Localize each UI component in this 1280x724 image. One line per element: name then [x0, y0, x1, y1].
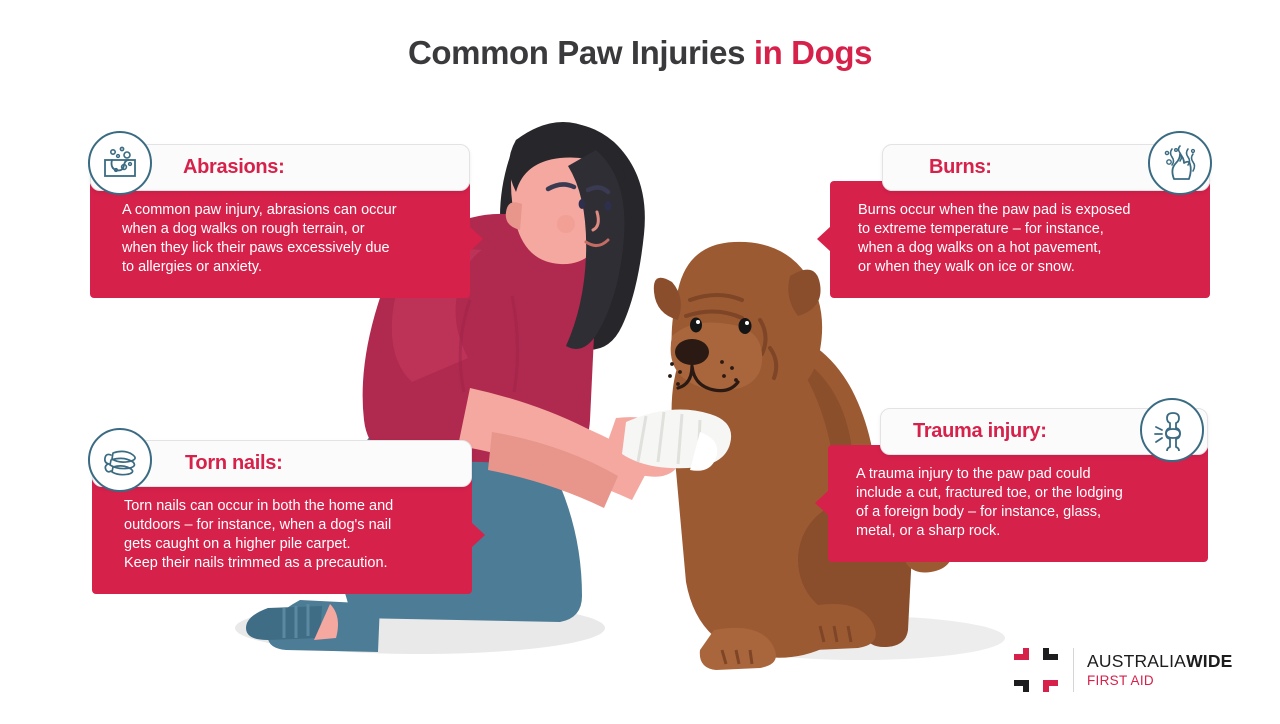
card-notch-right — [471, 522, 485, 548]
card-notch-left — [817, 226, 831, 252]
burn-heat-icon-badge — [1148, 131, 1212, 195]
abrasion-icon-badge — [88, 131, 152, 195]
card-notch-right — [469, 226, 483, 252]
logo-wordmark: AUSTRALIAWIDE FIRST AID — [1087, 652, 1233, 688]
card-trauma-injury-text: A trauma injury to the paw pad could inc… — [856, 465, 1182, 542]
torn-nail-icon — [99, 439, 141, 481]
torn-nail-icon-badge — [88, 428, 152, 492]
card-abrasions-text: A common paw injury, abrasions can occur… — [122, 201, 444, 278]
card-burns-title: Burns: — [929, 156, 992, 179]
logo-divider — [1073, 648, 1074, 692]
card-torn-nails-title: Torn nails: — [185, 452, 282, 475]
card-abrasions-body: A common paw injury, abrasions can occur… — [90, 181, 470, 298]
card-notch-left — [815, 490, 829, 516]
card-burns-text: Burns occur when the paw pad is exposed … — [858, 201, 1184, 278]
brand-logo: AUSTRALIAWIDE FIRST AID — [1012, 646, 1233, 694]
card-abrasions-title: Abrasions: — [183, 156, 284, 179]
australia-wide-cross-icon — [1012, 646, 1060, 694]
card-burns-body: Burns occur when the paw pad is exposed … — [830, 181, 1210, 298]
abrasion-icon — [100, 143, 140, 183]
logo-name-part1: AUSTRALIA — [1087, 651, 1186, 671]
logo-name-part2: WIDE — [1186, 651, 1233, 671]
card-trauma-injury-title: Trauma injury: — [913, 420, 1047, 443]
illustration-woman-bandaging-dog — [0, 0, 1280, 724]
card-trauma-injury-body: A trauma injury to the paw pad could inc… — [828, 445, 1208, 562]
fractured-bone-icon-badge — [1140, 398, 1204, 462]
logo-tagline: FIRST AID — [1087, 674, 1233, 688]
burn-heat-icon — [1160, 143, 1200, 183]
card-torn-nails-body: Torn nails can occur in both the home an… — [92, 477, 472, 594]
fractured-bone-icon — [1151, 409, 1193, 451]
card-torn-nails-text: Torn nails can occur in both the home an… — [124, 497, 446, 574]
